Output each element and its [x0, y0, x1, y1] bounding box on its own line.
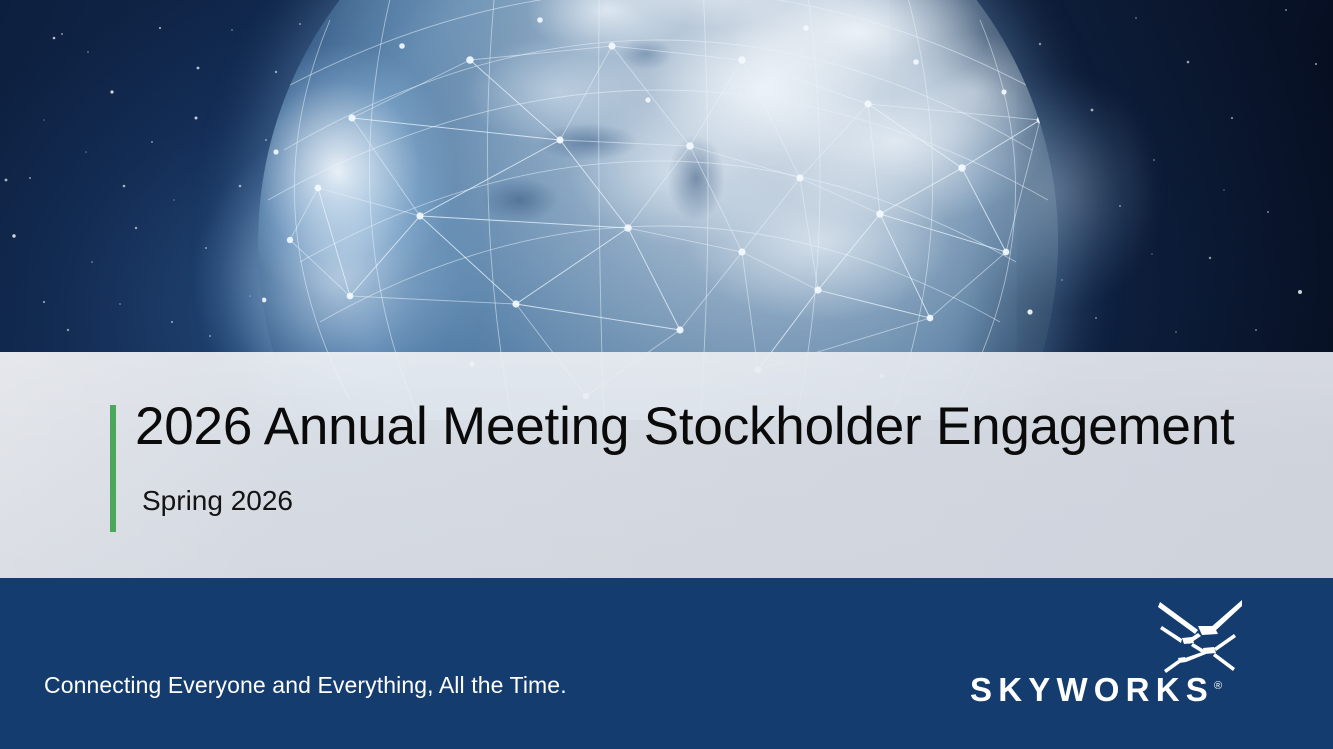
registered-trademark-symbol: ®: [1214, 680, 1222, 692]
presentation-slide: 2026 Annual Meeting Stockholder Engageme…: [0, 0, 1333, 749]
slide-subtitle: Spring 2026: [142, 485, 293, 517]
title-panel: 2026 Annual Meeting Stockholder Engageme…: [0, 352, 1333, 578]
page-title: 2026 Annual Meeting Stockholder Engageme…: [135, 398, 1235, 455]
footer-bar: Connecting Everyone and Everything, All …: [0, 578, 1333, 749]
wordmark-text: SKYWORKS: [970, 671, 1214, 708]
panel-gradient-veil: [0, 352, 1333, 578]
green-accent-bar: [110, 405, 116, 532]
skyworks-network-star-icon: [1158, 598, 1242, 674]
skyworks-wordmark: SKYWORKS®: [970, 671, 1222, 709]
skyworks-logo: SKYWORKS®: [970, 598, 1242, 718]
company-tagline: Connecting Everyone and Everything, All …: [44, 672, 567, 699]
